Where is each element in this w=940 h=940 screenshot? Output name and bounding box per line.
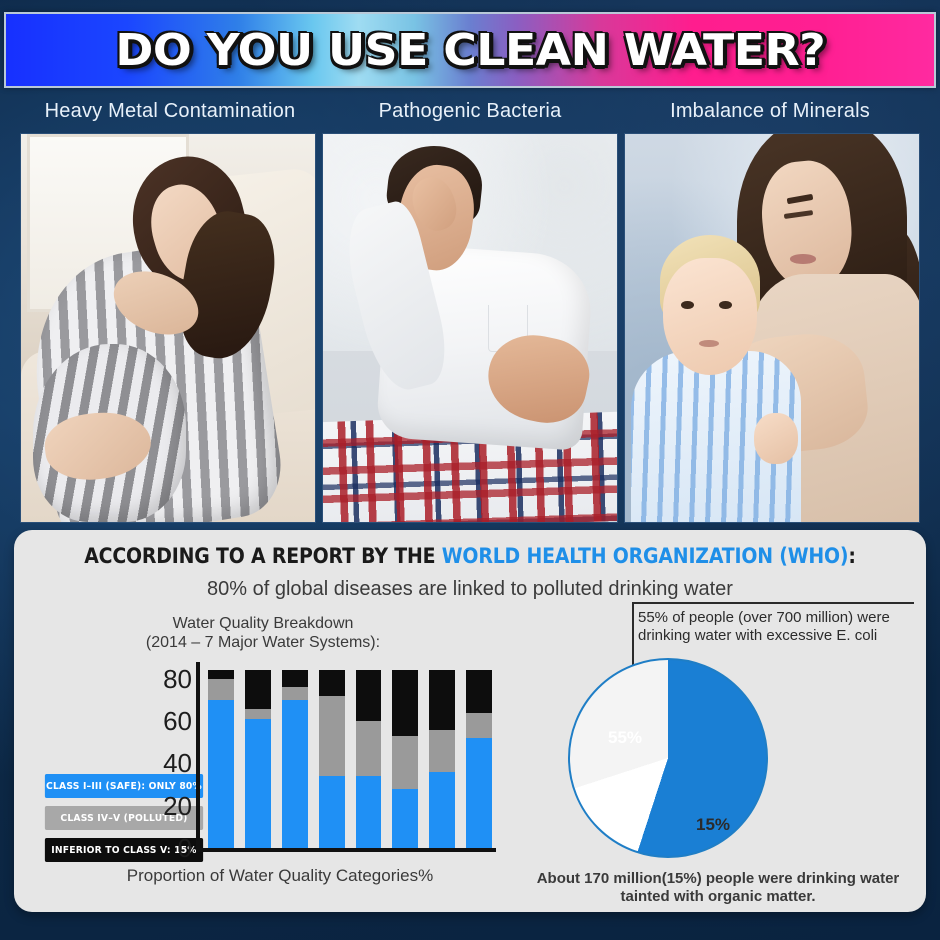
baby-face [663,258,757,374]
bar-segment-inferior [245,670,271,708]
bar-segment-inferior [208,670,234,678]
pie-caption: About 170 million(15%) people were drink… [516,870,920,906]
bar-segment-polluted [392,736,418,789]
pie-label-55: 55% [608,728,642,748]
photo-mother-and-baby [624,133,920,523]
bar-chart-title-line1: Water Quality Breakdown [98,614,428,633]
photo-captions: Heavy Metal Contamination Pathogenic Bac… [20,100,920,134]
banner-gradient: DO YOU USE CLEAN WATER? [4,12,936,88]
caption-imbalance-minerals: Imbalance of Minerals [620,100,920,134]
callout-rule [632,602,914,604]
bar-segment-inferior [429,670,455,729]
y-axis-tick: 20 [146,793,192,819]
y-axis [196,662,200,852]
bar-segment-safe [429,772,455,848]
bar-column [429,670,455,848]
infographic-root: DO YOU USE CLEAN WATER? Heavy Metal Cont… [0,0,940,940]
y-axis-tick: 80 [146,666,192,692]
bar-segment-safe [208,700,234,848]
bar-segment-safe [466,738,492,848]
bar-column [356,670,382,848]
who-heading: ACCORDING TO A REPORT BY THE WORLD HEALT… [60,544,881,568]
bar-column [319,670,345,848]
bar-segment-safe [392,789,418,848]
who-heading-suffix: : [848,544,855,568]
caption-pathogenic-bacteria: Pathogenic Bacteria [320,100,620,134]
pie-label-15: 15% [696,815,730,835]
bar-segment-polluted [282,687,308,700]
bar-chart: Water Quality Breakdown (2014 – 7 Major … [28,614,506,904]
bar-segment-safe [245,719,271,848]
bar-segment-polluted [429,730,455,772]
bar-segment-safe [356,776,382,848]
bar-segment-inferior [356,670,382,721]
bar-column [392,670,418,848]
bar-segment-polluted [466,713,492,738]
panel-subheading: 80% of global diseases are linked to pol… [14,578,926,601]
photo-row [20,133,920,523]
who-heading-accent: WORLD HEALTH ORGANIZATION (WHO) [442,544,849,568]
bar-segment-polluted [245,709,271,720]
bar-chart-title-line2: (2014 – 7 Major Water Systems): [98,633,428,652]
callout-text: 55% of people (over 700 million) were dr… [638,609,914,645]
x-axis [196,848,496,852]
bar-column [208,670,234,848]
bar-segment-inferior [466,670,492,712]
bar-segment-inferior [282,670,308,687]
page-title: DO YOU USE CLEAN WATER? [115,25,825,76]
who-heading-prefix: ACCORDING TO A REPORT BY THE [84,544,442,568]
bar-series-container [208,662,492,848]
bar-segment-polluted [208,679,234,700]
bar-segment-polluted [356,721,382,776]
bar-column [282,670,308,848]
photo-pregnant-woman [20,133,316,523]
bar-chart-xlabel: Proportion of Water Quality Categories% [70,866,490,886]
pie-chart: 55% of people (over 700 million) were dr… [506,602,920,908]
bar-segment-inferior [392,670,418,736]
bar-segment-safe [319,776,345,848]
bar-segment-polluted [319,696,345,776]
bar-column [466,670,492,848]
photo-man-stomach-pain [322,133,618,523]
pie-graphic [568,658,768,858]
mother-mouth [790,254,816,263]
y-axis-tick: 60 [146,708,192,734]
bar-plot-area: 020406080 [196,662,496,852]
header-banner: DO YOU USE CLEAN WATER? [4,12,936,88]
baby-hand [754,413,798,463]
bar-segment-safe [282,700,308,848]
stats-panel: ACCORDING TO A REPORT BY THE WORLD HEALT… [14,530,926,912]
bar-segment-inferior [319,670,345,695]
y-axis-tick: 0 [146,835,192,861]
caption-heavy-metal: Heavy Metal Contamination [20,100,320,134]
y-axis-tick: 40 [146,750,192,776]
bar-column [245,670,271,848]
bar-chart-title: Water Quality Breakdown (2014 – 7 Major … [98,614,428,652]
